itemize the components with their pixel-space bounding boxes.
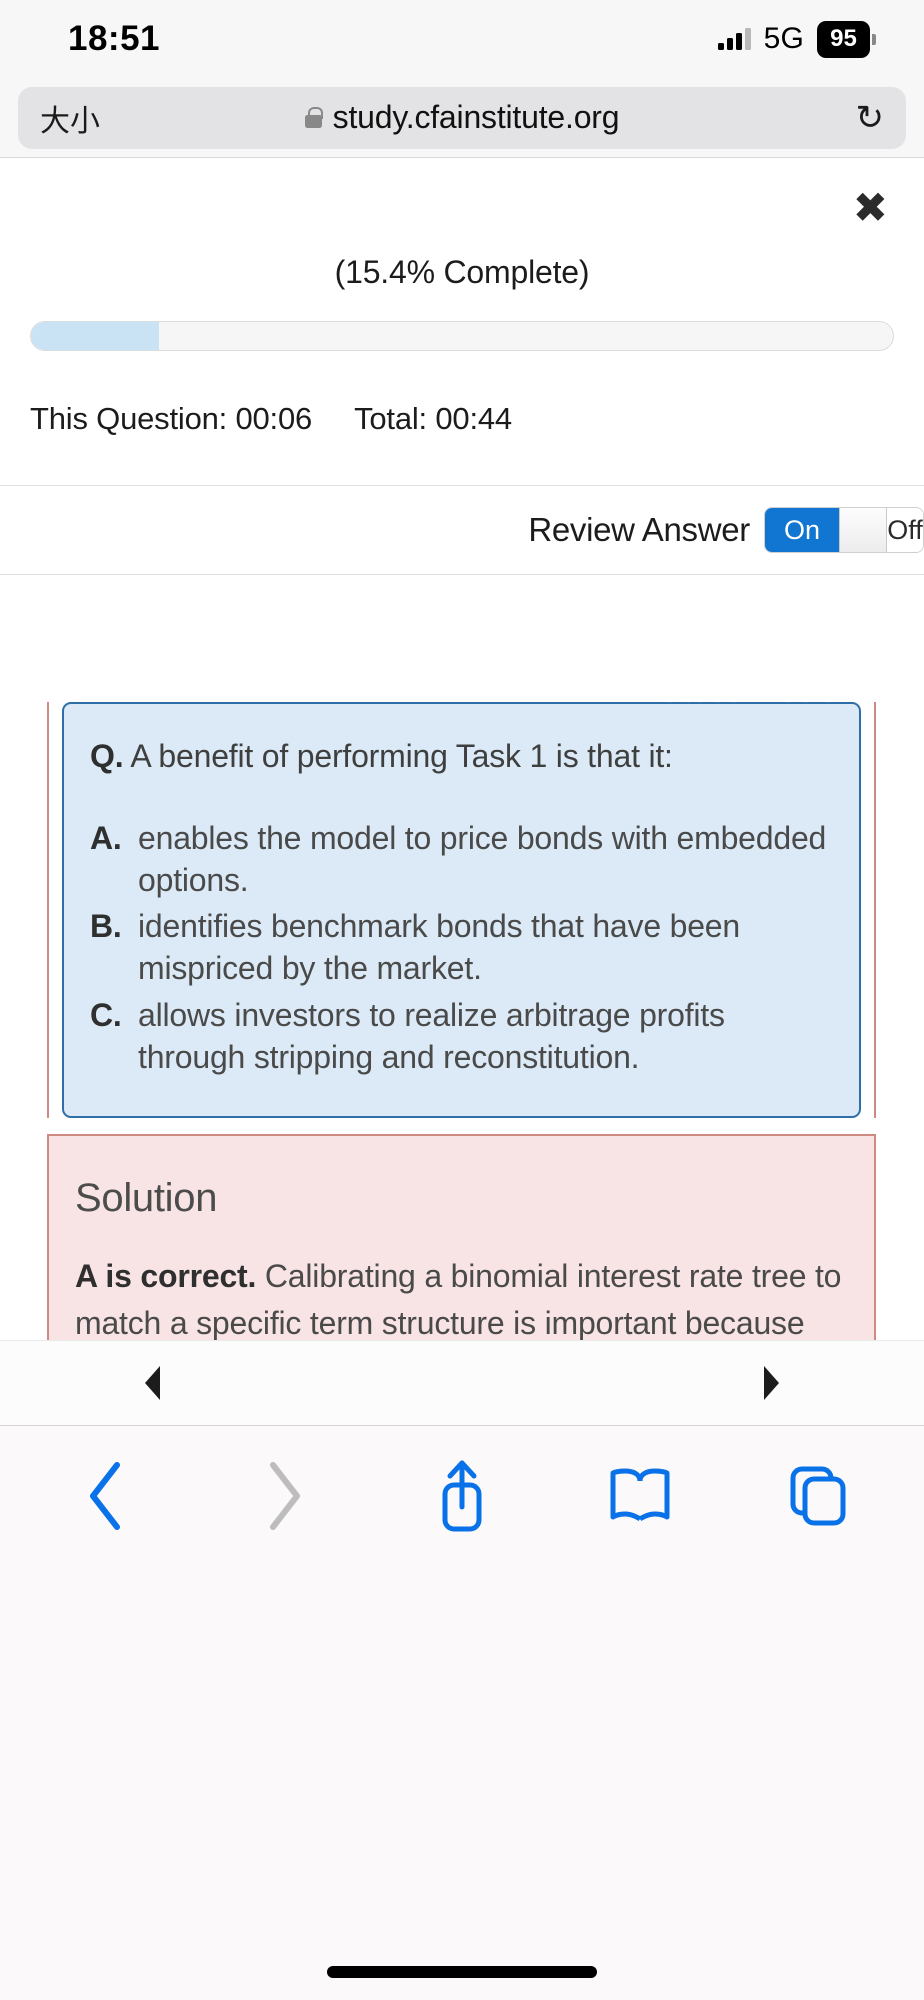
solution-body: A is correct. Calibrating a binomial int… [75, 1253, 848, 1340]
question-content-scroll-area[interactable]: Practice Problem Q. A benefit of perform… [0, 702, 924, 1340]
progress-percent-label: (15.4% Complete) [0, 254, 924, 321]
content-inner: Practice Problem Q. A benefit of perform… [0, 702, 924, 1340]
solution-verdict: A is correct. [75, 1258, 256, 1294]
triangle-left-icon[interactable] [145, 1366, 160, 1400]
reload-icon[interactable]: ↻ [856, 101, 885, 135]
toggle-on-label[interactable]: On [765, 508, 839, 552]
question-stem: Q. A benefit of performing Task 1 is tha… [90, 736, 833, 777]
question-outer-frame: Q. A benefit of performing Task 1 is tha… [47, 702, 876, 1118]
answer-choice-a[interactable]: A. enables the model to price bonds with… [90, 817, 833, 901]
progress-bar-fill [31, 322, 159, 350]
toggle-off-label[interactable]: Off [887, 508, 923, 552]
choice-text-c: allows investors to realize arbitrage pr… [138, 994, 833, 1078]
choice-letter-b: B. [90, 905, 138, 989]
tabs-icon[interactable] [770, 1448, 866, 1544]
choice-text-a: enables the model to price bonds with em… [138, 817, 833, 901]
battery-icon: 95 [817, 21, 876, 58]
forward-chevron-icon [236, 1448, 332, 1544]
quiz-header-panel: ✖ (15.4% Complete) This Question: 00:06 … [0, 159, 924, 575]
review-answer-toggle[interactable]: On Off [764, 507, 924, 553]
lock-icon [305, 107, 322, 128]
network-type-label: 5G [764, 22, 804, 56]
question-text: A benefit of performing Task 1 is that i… [130, 738, 672, 774]
choice-text-b: identifies benchmark bonds that have bee… [138, 905, 833, 989]
total-timer: Total: 00:44 [354, 401, 512, 437]
safari-url-bar: 大小 study.cfainstitute.org ↻ [0, 78, 924, 158]
answer-choice-b[interactable]: B. identifies benchmark bonds that have … [90, 905, 833, 989]
question-prefix: Q. [90, 738, 123, 774]
status-time: 18:51 [68, 19, 160, 59]
choice-letter-a: A. [90, 817, 138, 901]
practice-problem-label: Practice Problem [634, 702, 862, 710]
choice-letter-c: C. [90, 994, 138, 1078]
home-indicator [327, 1966, 597, 1978]
url-text: study.cfainstitute.org [333, 99, 620, 136]
close-icon[interactable]: ✖ [853, 187, 888, 229]
answer-choice-c[interactable]: C. allows investors to realize arbitrage… [90, 994, 833, 1078]
book-icon[interactable] [592, 1448, 688, 1544]
ios-status-bar: 18:51 5G 95 [0, 0, 924, 78]
solution-panel: Solution A is correct. Calibrating a bin… [47, 1134, 876, 1340]
battery-percent: 95 [817, 21, 870, 58]
review-answer-label: Review Answer [528, 511, 750, 549]
this-question-timer: This Question: 00:06 [30, 401, 312, 437]
review-row-divider [0, 574, 924, 575]
safari-bottom-toolbar [0, 1426, 924, 2000]
close-row: ✖ [0, 159, 924, 254]
toggle-knob[interactable] [839, 508, 887, 552]
solution-title: Solution [75, 1176, 848, 1221]
review-answer-row: Review Answer On Off [0, 486, 924, 574]
url-display: study.cfainstitute.org [18, 99, 906, 136]
toolbar-icon-row [0, 1426, 924, 1544]
question-card: Q. A benefit of performing Task 1 is tha… [62, 702, 861, 1118]
back-chevron-icon[interactable] [58, 1448, 154, 1544]
page-settings-button[interactable]: 大小 [40, 96, 100, 140]
answer-choices-list: A. enables the model to price bonds with… [90, 817, 833, 1078]
share-icon[interactable] [414, 1448, 510, 1544]
url-field[interactable]: 大小 study.cfainstitute.org ↻ [18, 87, 906, 149]
status-indicators: 5G 95 [718, 21, 876, 58]
timers-row: This Question: 00:06 Total: 00:44 [0, 351, 924, 437]
triangle-right-icon[interactable] [764, 1366, 779, 1400]
progress-bar [30, 321, 894, 351]
signal-bars-icon [718, 28, 751, 50]
battery-cap [872, 34, 876, 45]
question-pager [0, 1340, 924, 1425]
